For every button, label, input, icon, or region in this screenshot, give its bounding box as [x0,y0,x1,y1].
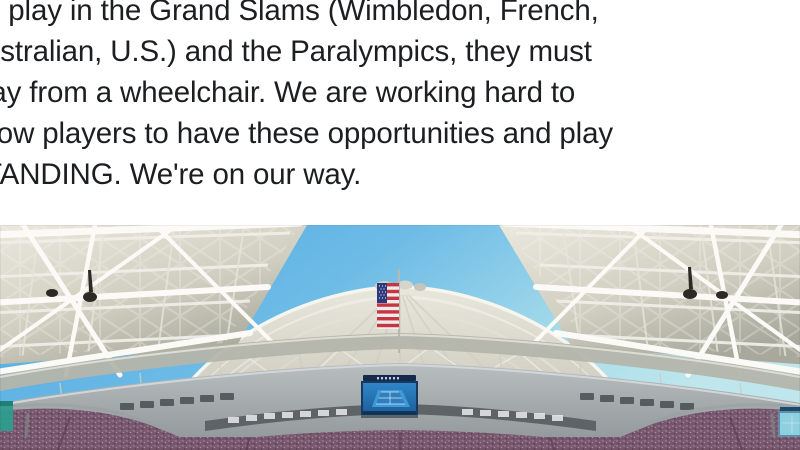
post-text-line-3: lay from a wheelchair. We are working ha… [0,77,575,109]
post-text-line-4: llow players to have these opportunities… [0,118,613,150]
stadium-photo [0,225,800,450]
post-text-line-1: o play in the Grand Slams (Wimbledon, Fr… [0,0,599,27]
stadium-photo-illustration [0,225,800,450]
right-screen-display [780,413,800,435]
post-text-line-5: TANDING. We're on our way. [0,159,361,191]
post-text-line-2: ustralian, U.S.) and the Paralympics, th… [0,36,592,68]
post-text-block: o play in the Grand Slams (Wimbledon, Fr… [0,0,800,225]
jumbotron-center [361,375,418,418]
jumbotron-right [778,407,800,437]
screenshot-root: o play in the Grand Slams (Wimbledon, Fr… [0,0,800,450]
banner-left [0,401,13,431]
